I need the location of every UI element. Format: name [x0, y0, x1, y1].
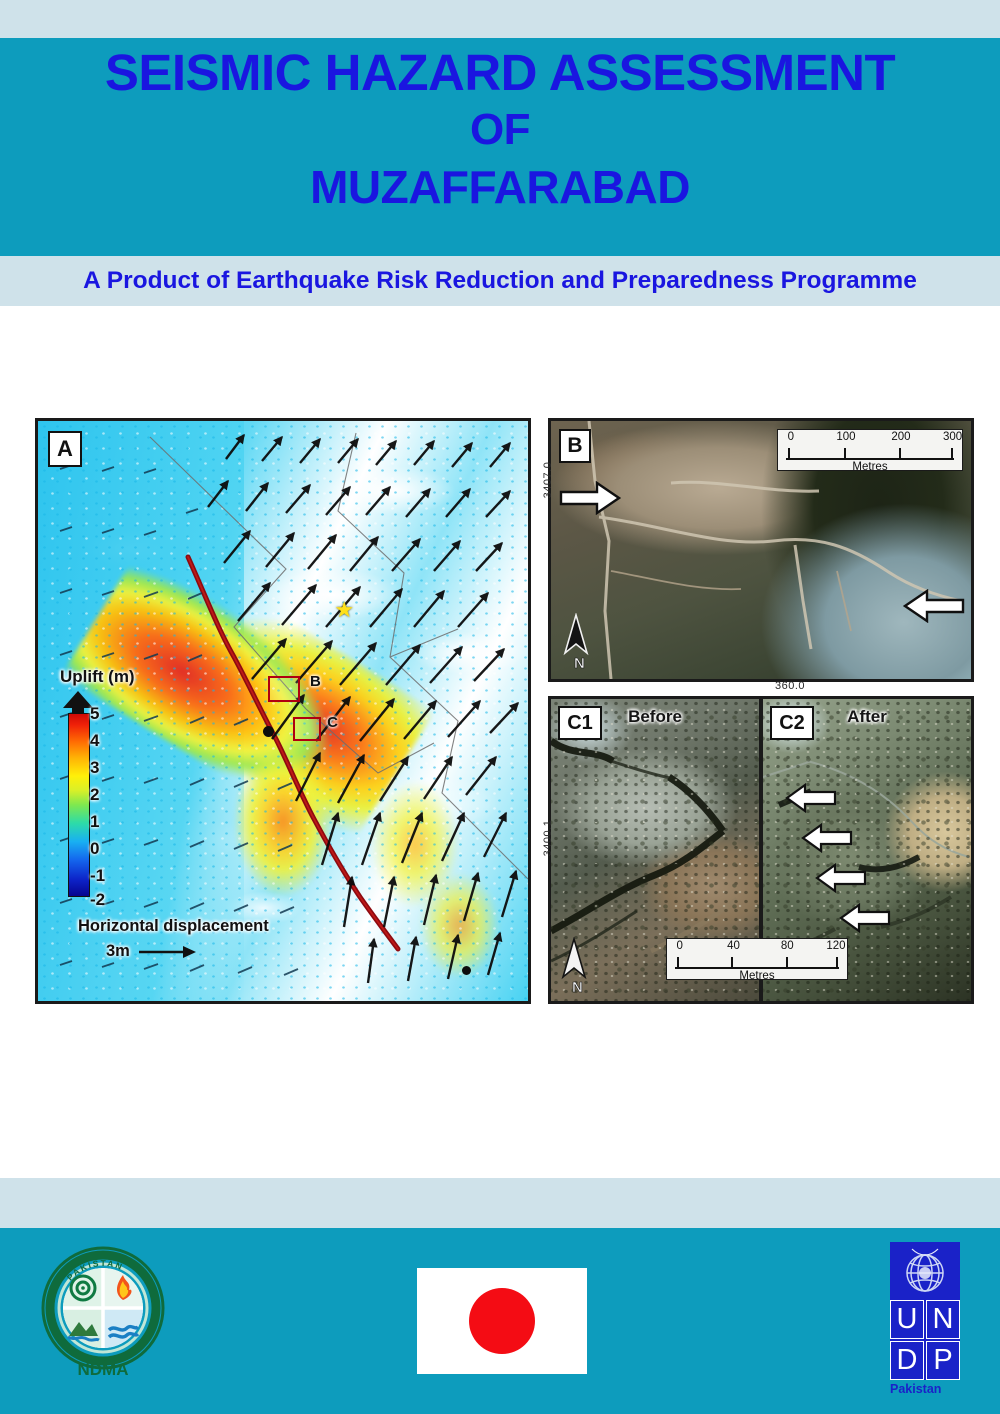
- japan-flag: [417, 1268, 587, 1374]
- scale-tick: [731, 957, 733, 968]
- uplift-colour-scale: 5 4 3 2 1 0 -1 -2: [60, 691, 180, 903]
- panel-c2-badge: C2: [770, 706, 814, 740]
- undp-letter: D: [890, 1341, 924, 1380]
- right-arrow-icon: [139, 945, 197, 959]
- scale-number: 80: [781, 940, 794, 952]
- inset-marker-c-label: C: [327, 714, 338, 731]
- scale-number: 300: [943, 431, 962, 443]
- un-globe-icon: [900, 1248, 950, 1296]
- undp-letter: U: [890, 1300, 924, 1339]
- panel-b-scale-numbers: 0 100 200 300: [784, 431, 956, 446]
- panel-c1-caption: Before: [628, 707, 682, 727]
- panel-b-coord-bottom: 360.0: [775, 680, 805, 692]
- uplift-tick: 1: [90, 815, 99, 829]
- subtitle-band: A Product of Earthquake Risk Reduction a…: [0, 256, 1000, 306]
- page-subtitle: A Product of Earthquake Risk Reduction a…: [83, 267, 917, 295]
- horizontal-displacement-value: 3m: [106, 942, 130, 961]
- panel-c2-caption: After: [847, 707, 887, 727]
- undp-letter: P: [926, 1341, 960, 1380]
- panel-a-badge: A: [48, 431, 82, 467]
- panel-c1-badge: C1: [558, 706, 602, 740]
- panel-b-satellite-image: B 0 100 200 300 Metres N: [548, 418, 974, 682]
- page-title-line-3: MUZAFFARABAD: [0, 158, 1000, 216]
- page-title-line-2: OF: [0, 102, 1000, 158]
- top-decor-band: [0, 0, 1000, 38]
- north-arrow-icon: N: [563, 613, 589, 669]
- scale-tick: [788, 448, 790, 459]
- uplift-tick: 0: [90, 842, 99, 856]
- epicentre-star-icon: ★: [334, 600, 354, 620]
- panel-b-badge: B: [559, 429, 591, 463]
- scale-tick: [677, 957, 679, 968]
- uplift-tick: 5: [90, 707, 99, 721]
- scale-number: 0: [788, 431, 794, 443]
- panel-b-scale-unit: Metres: [778, 461, 962, 473]
- scale-tick: [844, 448, 846, 459]
- uplift-tick: 2: [90, 788, 99, 802]
- undp-logo: U N D P Pakistan: [890, 1242, 968, 1404]
- north-arrow-icon: N: [561, 937, 587, 993]
- bottom-decor-band: [0, 1178, 1000, 1228]
- north-label: N: [574, 655, 585, 669]
- uplift-tick: 4: [90, 734, 99, 748]
- panel-c-scale-bar: 0 40 80 120 Metres: [666, 938, 848, 980]
- panel-b-scale-bar: 0 100 200 300 Metres: [777, 429, 963, 471]
- scale-number: 40: [727, 940, 740, 952]
- scale-tick: [836, 957, 838, 968]
- uplift-tick: -1: [90, 869, 105, 883]
- uplift-tick: -2: [90, 893, 105, 907]
- panel-b-scale-line: [786, 447, 954, 460]
- uplift-tick-labels: 5 4 3 2 1 0 -1 -2: [90, 703, 170, 903]
- horizontal-displacement-scale: 3m: [106, 942, 269, 961]
- horizontal-displacement-legend: Horizontal displacement 3m: [78, 917, 269, 961]
- ndma-acronym: NDMA: [78, 1360, 129, 1379]
- north-label: N: [572, 979, 583, 993]
- scale-number: 100: [836, 431, 855, 443]
- japan-flag-circle: [469, 1288, 535, 1354]
- figure-area: ★ B C A Uplift (m) 5 4 3 2: [0, 306, 1000, 1178]
- panel-c-scale-line: [675, 956, 839, 969]
- scale-number: 120: [826, 940, 845, 952]
- horizontal-displacement-title: Horizontal displacement: [78, 917, 269, 936]
- scale-tick: [899, 448, 901, 459]
- scale-number: 0: [677, 940, 683, 952]
- secondary-marker-dot: [462, 966, 471, 975]
- undp-letters: U N D P: [890, 1300, 960, 1380]
- inset-marker-b-box: [268, 676, 300, 702]
- page-title-line-1: SEISMIC HAZARD ASSESSMENT: [0, 44, 1000, 102]
- uplift-legend-title: Uplift (m): [60, 667, 180, 687]
- undp-letter: N: [926, 1300, 960, 1339]
- uplift-tick: 3: [90, 761, 99, 775]
- white-arrow-icon: [801, 823, 853, 853]
- panel-c-scale-numbers: 0 40 80 120: [673, 940, 841, 955]
- page-title: SEISMIC HAZARD ASSESSMENT OF MUZAFFARABA…: [0, 44, 1000, 216]
- panel-c-scale-unit: Metres: [667, 970, 847, 982]
- panel-b-coord-left: 3407.0: [542, 445, 554, 515]
- white-arrow-icon: [839, 903, 891, 933]
- logos-band: PAKISTAN NDMA U N D: [0, 1228, 1000, 1414]
- inset-marker-c-box: [293, 717, 321, 741]
- undp-caption: Pakistan: [890, 1382, 962, 1396]
- uplift-legend: Uplift (m) 5 4 3 2 1 0 -1 -2: [60, 667, 180, 903]
- white-arrow-icon: [815, 863, 867, 893]
- white-arrow-right-icon: [559, 481, 621, 515]
- scale-tick: [786, 957, 788, 968]
- panel-a-uplift-map: ★ B C A Uplift (m) 5 4 3 2: [35, 418, 531, 1004]
- inset-marker-b-label: B: [310, 673, 321, 690]
- scale-number: 200: [891, 431, 910, 443]
- city-marker-dot: [263, 726, 274, 737]
- scale-tick: [951, 448, 953, 459]
- uplift-colour-bar: [68, 713, 90, 897]
- panel-c-coord-left: 3400.1: [542, 802, 554, 874]
- ndma-logo: PAKISTAN NDMA: [40, 1242, 166, 1382]
- white-arrow-left-icon: [903, 589, 965, 623]
- white-arrow-icon: [785, 783, 837, 813]
